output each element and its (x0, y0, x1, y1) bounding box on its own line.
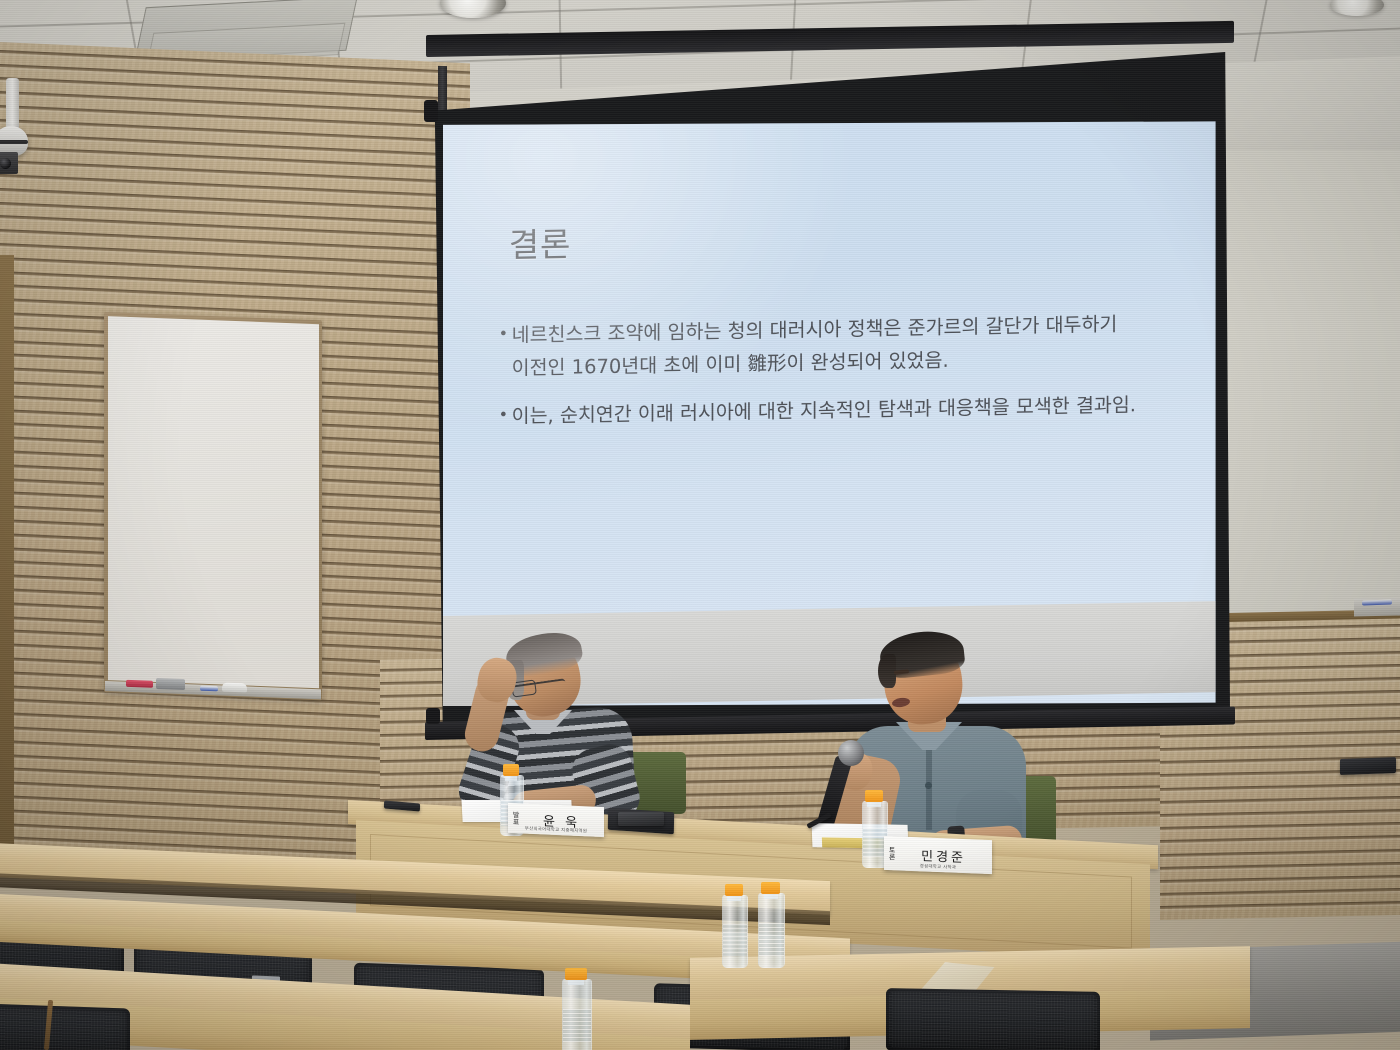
water-bottle-right[interactable] (862, 790, 886, 866)
screen-projection-surface: 결론 • 네르친스크 조약에 임하는 청의 대러시아 정책은 준가르의 갈단가 … (443, 121, 1216, 706)
bottle-body-3 (722, 895, 748, 968)
camera-ring (0, 140, 28, 144)
whiteboard (104, 312, 322, 700)
gray-eraser-icon (156, 678, 185, 690)
seminar-room-photo: 결론 • 네르친스크 조약에 임하는 청의 대러시아 정책은 준가르의 갈단가 … (0, 0, 1400, 1050)
placard-discussant-role: 토론 (888, 846, 895, 860)
water-bottle-front-3[interactable] (562, 968, 590, 1050)
bullet-marker-icon: • (498, 319, 511, 386)
bottle-cap-5-icon (565, 968, 586, 980)
audience-chair-7[interactable] (886, 988, 1100, 1050)
phone-screen (618, 812, 664, 826)
chair-mesh-7 (889, 991, 1097, 1050)
slide-title: 결론 (508, 218, 571, 267)
bottle-ribs-4 (759, 923, 784, 956)
right-panelist-shirt-button (925, 782, 932, 789)
placard-presenter: 발표 윤 욱 부산외국어대학교 지중해지역원 (508, 803, 604, 837)
bottle-cap-4-icon (761, 882, 780, 894)
slide-bullet-list: • 네르친스크 조약에 임하는 청의 대러시아 정책은 준가르의 갈단가 대두하… (498, 307, 1155, 448)
bottle-cap-2-icon (865, 790, 883, 802)
blue-marker-right-icon (1362, 599, 1392, 605)
placard-discussant: 토론 민경준 경성대학교 사학과 (884, 836, 992, 874)
bullet-marker-2-icon: • (498, 400, 511, 434)
bottle-ribs-5 (563, 1009, 591, 1042)
bottle-ribs-3 (723, 924, 747, 956)
white-eraser-icon (222, 683, 247, 693)
screen-roller-cap-bottom-left (426, 708, 440, 724)
camera-lens-icon (0, 158, 11, 169)
audience-chair-6[interactable] (0, 1003, 130, 1050)
device-right-table[interactable] (1340, 757, 1396, 775)
slide-bullet-item-2: • 이는, 순치연간 이래 러시아에 대한 지속적인 탐색과 대응책을 모색한 … (498, 388, 1155, 434)
camera-mount-pole (6, 78, 19, 130)
water-bottle-front-2[interactable] (758, 882, 783, 966)
wall-vertical-trim (0, 255, 14, 875)
chair-mesh-6 (0, 1006, 127, 1050)
screen-roller-cap-left (424, 100, 438, 122)
water-bottle-front-1[interactable] (722, 884, 746, 966)
red-marker-icon (126, 680, 153, 688)
bottle-body-5 (562, 979, 592, 1050)
whiteboard-surface (108, 316, 319, 688)
person-left-panelist (452, 628, 702, 828)
bottle-cap-icon (503, 764, 520, 776)
slide-bullet-item: • 네르친스크 조약에 임하는 청의 대러시아 정책은 준가르의 갈단가 대두하… (498, 307, 1155, 386)
placard-presenter-role: 발표 (512, 811, 519, 825)
bottle-body-4 (758, 893, 785, 968)
slide-bullet-text-2: 이는, 순치연간 이래 러시아에 대한 지속적인 탐색과 대응책을 모색한 결과… (511, 388, 1155, 433)
microphone-head-icon (838, 740, 864, 766)
bottle-cap-3-icon (725, 884, 743, 896)
blue-marker-icon (200, 686, 218, 692)
slide-bullet-text: 네르친스크 조약에 임하는 청의 대러시아 정책은 준가르의 갈단가 대두하기 … (511, 307, 1155, 386)
